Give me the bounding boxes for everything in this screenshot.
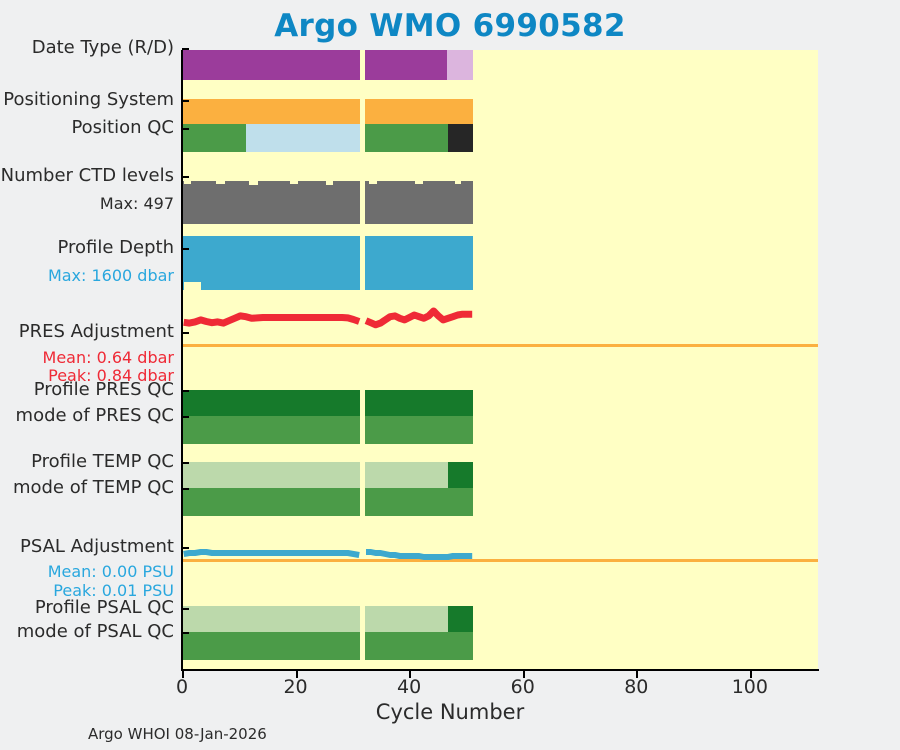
x-tick-label-80: 80 — [596, 676, 676, 698]
row-label-mode-of-pres-qc: mode of PRES QC — [0, 406, 180, 426]
bar-segment-date-type — [447, 50, 473, 80]
plot-area — [182, 50, 818, 670]
bar-segment-position-qc — [365, 124, 448, 152]
bar-segment-profile-pres-qc — [365, 390, 472, 416]
row-sublabel-psal-adjustment: Mean: 0.00 PSU — [0, 562, 180, 582]
bar-notch-number-ctd-levels — [326, 181, 333, 185]
row-label-number-ctd-levels: Number CTD levels — [0, 166, 180, 186]
row-label-profile-depth: Profile Depth — [0, 238, 180, 258]
bar-segment-profile-depth — [365, 236, 472, 290]
bar-segment-position-qc — [246, 124, 360, 152]
row-sublabel-profile-depth: Max: 1600 dbar — [0, 266, 180, 286]
bar-notch-number-ctd-levels — [216, 181, 225, 184]
bar-notch-number-ctd-levels — [290, 181, 298, 184]
x-tick-label-40: 40 — [369, 676, 449, 698]
x-axis-line — [181, 669, 819, 671]
x-tick-label-20: 20 — [256, 676, 336, 698]
row-label-profile-pres-qc: Profile PRES QC — [0, 380, 180, 400]
y-tick-profile-psal-qc — [182, 608, 189, 610]
row-label-positioning-system: Positioning System — [0, 90, 180, 110]
credit-text: Argo WHOI 08-Jan-2026 — [88, 725, 267, 743]
zero-reference-line-psal-adjustment — [182, 559, 818, 562]
x-tick-label-60: 60 — [483, 676, 563, 698]
row-label-position-qc: Position QC — [0, 118, 180, 138]
bar-segment-mode-of-temp-qc — [183, 488, 360, 516]
row-label-mode-of-psal-qc: mode of PSAL QC — [0, 622, 180, 642]
bar-segment-mode-of-psal-qc — [183, 632, 360, 660]
bar-segment-mode-of-temp-qc — [365, 488, 472, 516]
bar-notch-number-ctd-levels — [415, 181, 423, 184]
y-tick-number-ctd-levels — [182, 176, 189, 178]
bar-segment-profile-temp-qc — [183, 462, 360, 488]
y-tick-position-qc — [182, 128, 189, 130]
row-label-psal-adjustment: PSAL Adjustment — [0, 537, 180, 557]
x-tick-label-0: 0 — [142, 676, 222, 698]
row-label-date-type: Date Type (R/D) — [0, 38, 180, 58]
bar-segment-number-ctd-levels — [183, 181, 360, 224]
x-tick-label-100: 100 — [710, 676, 790, 698]
bar-segment-profile-pres-qc — [183, 390, 360, 416]
y-tick-pres-adjustment — [182, 332, 189, 334]
zero-reference-line-pres-adjustment — [182, 344, 818, 347]
y-axis-line — [181, 50, 183, 671]
y-tick-mode-of-temp-qc — [182, 488, 189, 490]
bar-segment-mode-of-psal-qc — [365, 632, 472, 660]
bar-segment-positioning-system — [365, 99, 472, 124]
bar-notch-number-ctd-levels — [184, 181, 191, 184]
bar-segment-date-type — [183, 50, 360, 80]
bar-segment-profile-depth — [183, 236, 360, 290]
row-label-profile-temp-qc: Profile TEMP QC — [0, 452, 180, 472]
bar-segment-profile-temp-qc — [365, 462, 448, 488]
bar-notch-number-ctd-levels — [249, 181, 258, 185]
row-sublabel-number-ctd-levels: Max: 497 — [0, 194, 180, 214]
bar-notch-number-ctd-levels — [369, 181, 377, 184]
bar-notch-number-ctd-levels — [455, 181, 462, 184]
y-tick-profile-depth — [182, 248, 189, 250]
y-tick-mode-of-pres-qc — [182, 416, 189, 418]
y-tick-profile-temp-qc — [182, 462, 189, 464]
bar-segment-position-qc — [448, 124, 472, 152]
row-sublabel-pres-adjustment: Mean: 0.64 dbar — [0, 348, 180, 368]
bar-segment-profile-psal-qc — [448, 606, 472, 632]
y-tick-psal-adjustment — [182, 547, 189, 549]
bar-segment-mode-of-pres-qc — [365, 416, 472, 444]
bar-segment-number-ctd-levels — [365, 181, 472, 224]
y-tick-profile-pres-qc — [182, 390, 189, 392]
bar-segment-mode-of-pres-qc — [183, 416, 360, 444]
argo-float-summary-figure: Argo WMO 6990582 Date Type (R/D)Position… — [0, 0, 900, 750]
bar-notch-profile-depth — [184, 282, 201, 290]
y-tick-mode-of-psal-qc — [182, 632, 189, 634]
bar-segment-positioning-system — [183, 99, 360, 124]
bar-segment-profile-psal-qc — [183, 606, 360, 632]
bar-segment-profile-psal-qc — [365, 606, 448, 632]
row-label-profile-psal-qc: Profile PSAL QC — [0, 598, 180, 618]
bar-segment-position-qc — [183, 124, 246, 152]
row-label-mode-of-temp-qc: mode of TEMP QC — [0, 478, 180, 498]
x-axis-title: Cycle Number — [0, 700, 900, 724]
bar-segment-profile-temp-qc — [448, 462, 472, 488]
bar-segment-date-type — [365, 50, 447, 80]
y-tick-date-type — [182, 48, 189, 50]
y-tick-positioning-system — [182, 100, 189, 102]
row-label-pres-adjustment: PRES Adjustment — [0, 322, 180, 342]
